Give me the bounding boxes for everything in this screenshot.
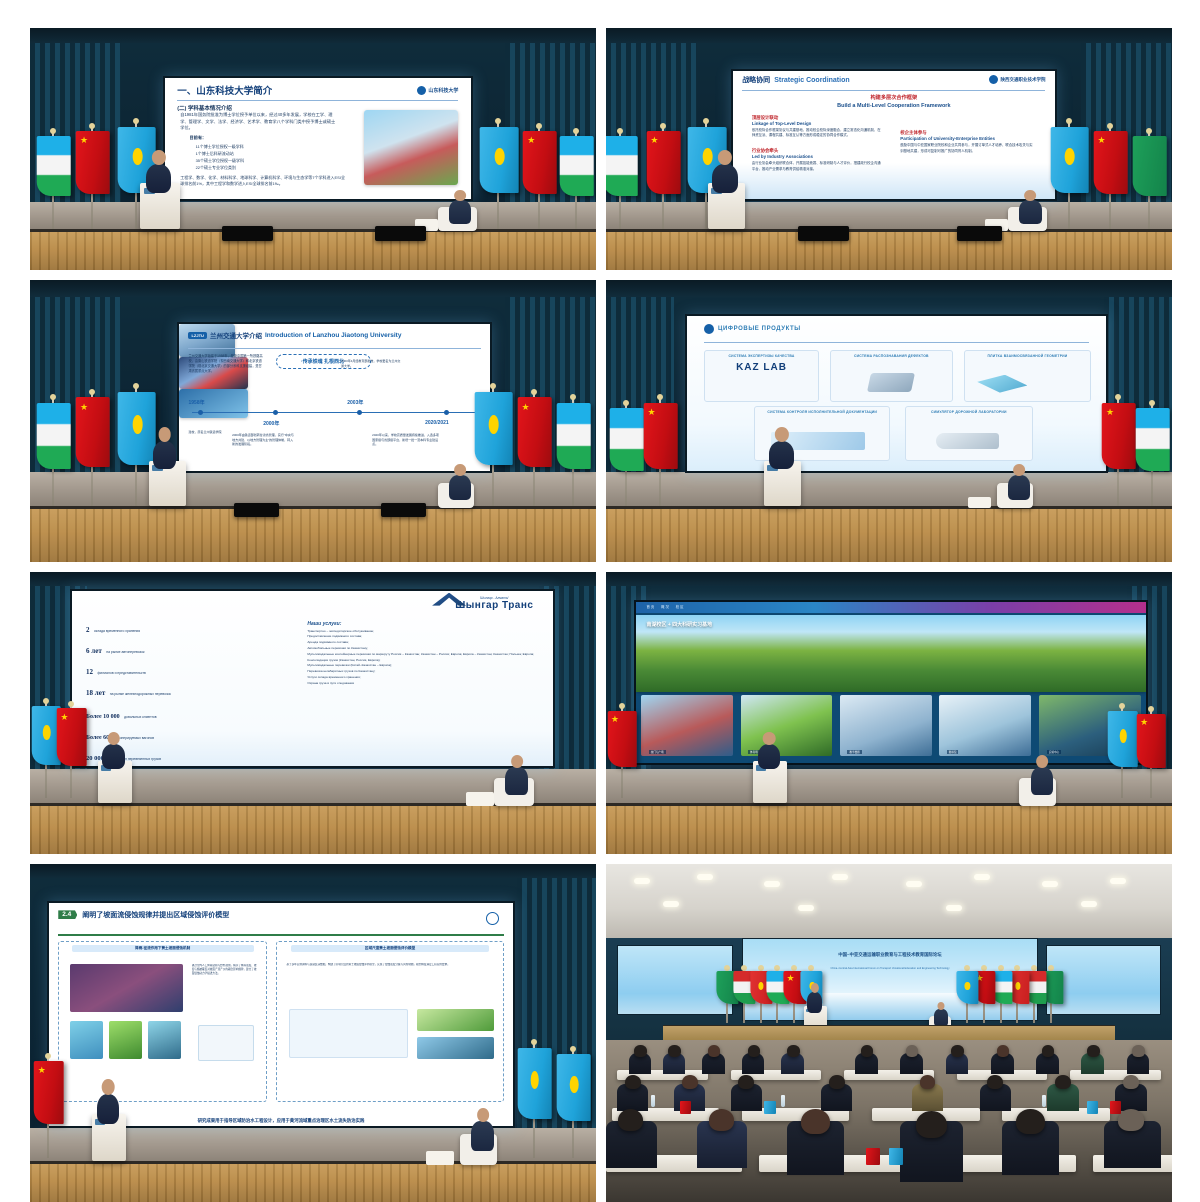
nav-label: 概况 <box>661 605 670 609</box>
ceiling-light <box>798 905 814 911</box>
slide-subtitle: (二) 学科基本情况介绍 <box>177 104 232 112</box>
flag-uzbekistan <box>1141 404 1164 506</box>
service-item: Услуги склада временного хранения; <box>307 675 538 680</box>
result-chart <box>198 1025 254 1062</box>
ceiling-light <box>1110 878 1126 884</box>
timeline-note: 2003年4月经教育部批准，学校更名为兰州交通大学。 <box>341 359 403 369</box>
stat-label: на рынке автоперевозок <box>106 650 144 654</box>
stat-label: оперируемых вагонов <box>120 736 154 740</box>
flag-uzbekistan <box>565 132 588 229</box>
campus-thumbnail: 校门与广场 <box>641 695 733 756</box>
speaker-person <box>153 441 176 469</box>
campus-thumbnail: 图书馆 <box>939 695 1031 756</box>
flag-uzbekistan <box>609 132 632 229</box>
seated-guest <box>934 1009 948 1026</box>
campus-photo <box>364 110 459 185</box>
speaker-person <box>146 164 171 193</box>
audience-head <box>634 1045 646 1056</box>
timeline-dot <box>357 410 362 415</box>
side-table <box>426 1151 454 1165</box>
service-item: Мультимодальные контейнерные перевозки п… <box>307 652 538 657</box>
intro-text: 兰州交通大学始建于1958年，是新中国第一所铁路高校，由唐山铁道学院（现西南交通… <box>188 354 263 375</box>
panel-8-audience-view: 中国–中亚交通运输职业教育与工程技术教育国际论坛 China–Central A… <box>606 864 1172 1202</box>
speaker-person <box>769 441 794 469</box>
presentation-screen: 一、山东科技大学简介 山东科技大学 (二) 学科基本情况介绍 自1981年国务院… <box>163 76 473 201</box>
stage-front-panel <box>30 803 596 854</box>
stage-monitor <box>798 226 849 241</box>
stat-label: филиалов и представительств <box>97 671 145 675</box>
university-logo-icon <box>417 86 426 95</box>
slide-title: ЦИФРОВЫЕ ПРОДУКТЫ <box>718 326 801 332</box>
ceiling-light <box>832 874 848 880</box>
stage-monitor <box>957 226 1002 241</box>
speaker-person <box>97 1094 120 1124</box>
flag-china <box>528 127 551 229</box>
card-body: 通过室内人工降雨试验与野外观测，揭示了降雨强度、坡度与植被覆盖对坡面产流产沙的耦… <box>192 964 258 976</box>
audience-head <box>951 1045 963 1056</box>
flag-uzbekistan <box>562 398 585 505</box>
ceiling-light <box>906 881 922 887</box>
flag-kazakhstan <box>562 1050 585 1158</box>
stage-floor <box>606 202 1172 229</box>
flag-kazakhstan <box>1056 122 1081 228</box>
audience-head <box>709 1109 734 1131</box>
section-number-badge: 2.4 <box>58 910 77 919</box>
stage-monitor <box>375 226 426 241</box>
section-heading-en: Linkage of Top-Level Design <box>752 121 881 126</box>
stat-number: Более 10 000 <box>86 714 120 720</box>
seated-guest <box>471 1121 494 1151</box>
timeline-year: 2000年 <box>263 420 279 427</box>
ceiling-light <box>697 874 713 880</box>
flag-uzbekistan <box>770 969 785 1023</box>
photo-collage: 一、山东科技大学简介 山东科技大学 (二) 学科基本情况介绍 自1981年国务院… <box>30 28 1172 1172</box>
seated-guest <box>1031 767 1054 795</box>
audience-head <box>1118 1109 1144 1131</box>
ceiling-light <box>1081 901 1097 907</box>
ceiling-light <box>974 874 990 880</box>
slide-title: 阐明了坡面流侵蚀规律并提出区域侵蚀评价模型 <box>82 910 229 920</box>
speaker-person <box>712 164 737 193</box>
desk-flag-kazakhstan <box>764 1101 775 1115</box>
stat-number: 6 лет <box>86 647 102 655</box>
audience-head <box>787 1045 799 1056</box>
services-heading: Наши услуги: <box>307 621 538 627</box>
stage-monitor <box>234 503 279 517</box>
service-item: Транспортно – экспедиторское обслуживани… <box>307 629 538 634</box>
product-caption: ПЛИТКА ВЗАИМОСВЯЗАННОЙ ГЕОМЕТРИИ <box>965 354 1091 358</box>
slide-badge: LZJTU <box>188 332 206 339</box>
flag-kazakhstan <box>123 387 148 505</box>
panel-7-erosion-research: 2.4 阐明了坡面流侵蚀规律并提出区域侵蚀评价模型 降雨-径流作用下黄土坡面侵蚀… <box>30 864 596 1202</box>
campus-panorama-photo <box>636 615 1145 692</box>
timeline-note: 2000年由铁道部划转甘肃省管理，实行"中央与地方共建、以地方管理为主"的管理体… <box>232 433 294 447</box>
product-value: KAZ LAB <box>705 362 818 373</box>
seated-guest <box>1008 475 1031 500</box>
sample-photo <box>148 1021 181 1059</box>
flag-china <box>976 969 991 1023</box>
service-item: Аренда подвижного состава; <box>307 640 538 645</box>
sample-photo <box>109 1021 142 1059</box>
section-body: 依托校际合作框架协议与共建基地，推动校企校际深度融合，建立常态化沟通机制，在师资… <box>752 128 881 139</box>
university-logo-icon <box>486 912 499 925</box>
institute-logo-icon <box>989 75 998 84</box>
speaker-person <box>102 744 125 769</box>
stat-number: 12 <box>86 668 93 676</box>
service-item: Перевозка негабаритных грузов по Казахст… <box>307 669 538 674</box>
seated-guest <box>505 767 528 795</box>
stage-front-panel <box>30 1161 596 1202</box>
presentation-screen: 2.4 阐明了坡面流侵蚀规律并提出区域侵蚀评价模型 降雨-径流作用下黄土坡面侵蚀… <box>47 901 515 1128</box>
timeline-dot <box>444 410 449 415</box>
audience-head <box>682 1075 698 1089</box>
desk-flag-china <box>1110 1101 1121 1115</box>
timeline-note: 建校，原名兰州铁道学院 <box>188 430 238 435</box>
audience-head <box>1123 1075 1139 1089</box>
audience-head <box>916 1111 947 1138</box>
timeline-dot <box>273 410 278 415</box>
campus-thumbnail: 教学楼群 <box>840 695 932 756</box>
stage-monitor <box>381 503 426 517</box>
campus-thumbnail: 体育场 <box>741 695 833 756</box>
stage-floor <box>606 769 1172 803</box>
audience-head <box>618 1109 643 1131</box>
section-heading-en: Participation of University-Enterprise E… <box>900 136 1035 141</box>
organization-logo-icon <box>704 324 714 334</box>
water-bottle <box>781 1095 785 1107</box>
flag-kazakhstan <box>1113 707 1133 797</box>
thumbnail-caption: 实验中心 <box>1047 750 1061 754</box>
company-name: Шынгар Транс <box>455 600 533 611</box>
simulator-illustration <box>936 433 999 449</box>
audience-head <box>920 1075 936 1089</box>
section-body: 由行业协会牵头组织联合体，开展技能竞赛、标准研制与人才评价，搭建政行校企沟通平台… <box>752 161 881 172</box>
audience-head <box>748 1045 760 1056</box>
ceiling-light <box>663 901 679 907</box>
list-heading: 目前有： <box>189 135 206 141</box>
audience-head <box>1132 1045 1144 1056</box>
stage-front-panel <box>30 229 596 270</box>
card-title: 区域尺度黄土坡面侵蚀评价模型 <box>291 945 489 952</box>
timeline-note: 2020年以来，学校高质量发展持续推进，入选多项国家级与省部级平台，新增一批一流… <box>372 433 440 447</box>
flag-china <box>38 1057 58 1158</box>
nav-label: 校区 <box>676 605 685 609</box>
ceiling-light <box>1042 881 1058 887</box>
research-card-right: 区域尺度黄土坡面侵蚀评价模型 基于多年实测资料与遥感反演数据，构建了区域尺度的黄… <box>276 941 503 1102</box>
experiment-photo <box>70 964 184 1012</box>
water-bottle <box>1042 1095 1046 1107</box>
stage-monitor <box>222 226 273 241</box>
flag-kazakhstan <box>522 1043 545 1158</box>
audience-head <box>801 1109 829 1134</box>
timeline-axis <box>192 412 478 413</box>
audience-head <box>1055 1075 1071 1089</box>
side-table <box>466 792 494 806</box>
card-title: 降雨-径流作用下黄土坡面侵蚀机制 <box>72 945 254 952</box>
flag-uzbekistan <box>993 969 1008 1023</box>
stage-front-panel <box>606 803 1172 854</box>
org-logo-label: 陕西交通职业技术学院 <box>1000 77 1045 83</box>
panel-4-digital-products: ЦИФРОВЫЕ ПРОДУКТЫ СИСТЕМА ЭКСПЕРТИЗЫ КАЧ… <box>606 280 1172 562</box>
thumbnail-caption: 教学楼群 <box>847 750 861 754</box>
flag-uzbekistan <box>41 398 64 505</box>
flag-kyrgyzstan <box>753 969 768 1023</box>
timeline-year: 1958年 <box>188 399 204 406</box>
stage-front-panel <box>606 229 1172 270</box>
slide-title-cn: 兰州交通大学介绍 <box>210 330 262 340</box>
presentation-screen: ЦИФРОВЫЕ ПРОДУКТЫ СИСТЕМА ЭКСПЕРТИЗЫ КАЧ… <box>685 314 1108 473</box>
flag-china <box>522 393 545 506</box>
audience-head <box>829 1075 845 1089</box>
section-heading-en: Led by Industry Associations <box>752 154 881 159</box>
audience-head <box>861 1045 873 1056</box>
device-illustration <box>867 373 915 392</box>
list-item: 1个博士后科研流动站 <box>196 150 343 157</box>
product-caption: СИСТЕМА ЭКСПЕРТИЗЫ КАЧЕСТВА <box>705 354 818 358</box>
tile-illustration <box>977 375 1027 393</box>
thumbnail-caption: 校门与广场 <box>649 750 666 754</box>
stage-floor <box>30 472 596 506</box>
product-card: СИСТЕМА РАСПОЗНАВАНИЯ ДЕФЕКТОВ <box>830 350 953 402</box>
panel-1-shandong-presentation: 一、山东科技大学简介 山东科技大学 (二) 学科基本情况介绍 自1981年国务院… <box>30 28 596 270</box>
product-caption: СИСТЕМА РАСПОЗНАВАНИЯ ДЕФЕКТОВ <box>831 354 952 358</box>
slide-footer: 工程学、数学、化学、材料科学、地球科学、计算机科学、环境与生态学等7个学科进入E… <box>180 175 345 187</box>
speaker-person <box>758 744 781 769</box>
flag-turkmenistan <box>719 969 734 1023</box>
research-card-left: 降雨-径流作用下黄土坡面侵蚀机制 通过室内人工降雨试验与野外观测，揭示了降雨强度… <box>58 941 267 1102</box>
flag-china <box>612 707 632 797</box>
slide-title-en: Introduction of Lanzhou Jiaotong Univers… <box>265 332 402 339</box>
slide-heading-cn: 构建多层次合作框架 <box>733 94 1056 101</box>
ceiling-light <box>946 905 962 911</box>
flag-kazakhstan <box>486 122 511 228</box>
product-caption: СИМУЛЯТОР ДОРОЖНОЙ ЛАБОРАТОРИИ <box>906 410 1032 414</box>
flag-kazakhstan <box>480 387 505 505</box>
side-table <box>968 497 991 508</box>
water-bottle <box>651 1095 655 1107</box>
panel-2-strategic-coordination: 战略协同 Strategic Coordination 陕西交通职业技术学院 构… <box>606 28 1172 270</box>
speaker-person <box>807 992 822 1012</box>
nav-label: 首页 <box>646 605 655 609</box>
slide-title-en: Strategic Coordination <box>774 77 849 84</box>
card-body: 基于多年实测资料与遥感反演数据，构建了区域尺度的黄土坡面侵蚀评价模型，实现了侵蚀… <box>286 963 493 967</box>
flag-china <box>1098 127 1121 229</box>
flag-china <box>1141 710 1161 797</box>
slide-footer: 研究成果用于指导区域防治水工程设计，应用于黄河流域重点治理区水土流失防治实践 <box>68 1118 495 1124</box>
list-item: 35个硕士学位授权一级学科 <box>196 157 343 164</box>
panel-6-cumt-campus: 首页 概况 校区 中国矿业大学 南湖校区 + 四大科研实习基地 校门与广场 <box>606 572 1172 854</box>
flag-turkmenistan <box>1044 969 1059 1023</box>
stat-label: на рынке железнодорожных перевозок <box>110 692 171 696</box>
product-caption: СИСТЕМА КОНТРОЛЯ ИСПОЛНИТЕЛЬНОЙ ДОКУМЕНТ… <box>755 410 889 414</box>
service-item: Консолидация грузов (Казахстан, Россия, … <box>307 658 538 663</box>
ceiling-light <box>634 878 650 884</box>
desk-flag-china <box>866 1148 880 1165</box>
org-logo-label: 山东科技大学 <box>428 87 458 94</box>
flag-china <box>787 969 802 1023</box>
ceiling-light <box>764 881 780 887</box>
presentation-screen: 战略协同 Strategic Coordination 陕西交通职业技术学院 构… <box>731 69 1058 201</box>
flag-kazakhstan <box>959 969 974 1023</box>
terrain-map <box>417 1037 494 1059</box>
sample-photo <box>70 1021 103 1059</box>
flag-tajikistan <box>1027 969 1042 1023</box>
flag-china <box>81 393 104 506</box>
stat-number: 18 лет <box>86 689 105 697</box>
timeline-year: 2003年 <box>347 399 363 406</box>
timeline-year: 2020/2021 <box>425 420 449 426</box>
service-item: Охрана груза в пути следования <box>307 681 538 686</box>
flag-kazakhstan <box>36 702 56 798</box>
audience-head <box>1042 1045 1054 1056</box>
stat-number: 2 <box>86 626 90 634</box>
desk-flag-kazakhstan <box>889 1148 903 1165</box>
service-item: Мультимодальные перевозки (Китай–Казахст… <box>307 663 538 668</box>
presentation-screen: LZJTU 兰州交通大学介绍 Introduction of Lanzhou J… <box>177 322 492 473</box>
forum-banner-cn: 中国–中亚交通运输职业教育与工程技术教育国际论坛 <box>760 952 1019 958</box>
audience-head <box>625 1075 641 1089</box>
flag-china <box>651 127 674 229</box>
audience-head <box>997 1045 1009 1056</box>
thumbnail-caption: 图书馆 <box>947 750 959 754</box>
audience-head <box>987 1075 1003 1089</box>
stage-front-panel <box>30 506 596 562</box>
slide-title: 一、山东科技大学简介 <box>177 83 272 97</box>
panel-3-lanzhou-jiaotong: LZJTU 兰州交通大学介绍 Introduction of Lanzhou J… <box>30 280 596 562</box>
seated-guest <box>449 200 472 224</box>
presentation-screen: 'Шынгар - Алматы' Шынгар Транс 2 склада … <box>70 589 555 768</box>
flag-china <box>81 127 104 229</box>
audience-head <box>1016 1109 1044 1134</box>
service-item: Автомобильные перевозки по Казахстану; <box>307 646 538 651</box>
stage-front-panel <box>606 506 1172 562</box>
flag-uzbekistan <box>41 132 64 229</box>
slide-title-cn: 战略协同 <box>742 75 770 85</box>
timeline-photo <box>179 324 235 356</box>
section-body: 鼓励中国与中亚国家职业院校和企业共同参与，开展订单式人才培养、联合技术攻关与实训… <box>900 143 1035 154</box>
stat-label: склада временного хранения <box>94 629 140 633</box>
flag-turkmenistan <box>1138 132 1161 229</box>
audience-head <box>1087 1045 1099 1056</box>
slide-heading-en: Build a Multi-Level Cooperation Framewor… <box>733 103 1056 109</box>
product-card: СИСТЕМА ЭКСПЕРТИЗЫ КАЧЕСТВА KAZ LAB <box>704 350 819 402</box>
seated-guest <box>1019 200 1042 224</box>
seated-guest <box>449 475 472 500</box>
model-diagram <box>289 1009 408 1059</box>
panel-5-shyngar-trans: 'Шынгар - Алматы' Шынгар Транс 2 склада … <box>30 572 596 854</box>
audience-head <box>668 1045 680 1056</box>
product-card: ПЛИТКА ВЗАИМОСВЯЗАННОЙ ГЕОМЕТРИИ <box>964 350 1092 402</box>
terrain-map <box>417 1009 494 1031</box>
flag-china <box>648 398 671 505</box>
audience-head <box>738 1075 754 1089</box>
stage-floor <box>606 472 1172 506</box>
flag-china <box>61 705 81 798</box>
stat-label: довольных клиентов <box>124 715 156 719</box>
desk-flag-kazakhstan <box>1087 1101 1098 1115</box>
audience-head <box>906 1045 918 1056</box>
list-item: 11个博士学位授权一级学科 <box>196 143 343 150</box>
flag-uzbekistan <box>614 404 637 506</box>
service-item: Предоставление подвижного состава; <box>307 634 538 639</box>
audience-head <box>708 1045 720 1056</box>
slide-heading: 南湖校区 + 四大科研实习基地 <box>646 621 712 628</box>
flag-kyrgyzstan <box>1010 969 1025 1023</box>
flag-china <box>1107 398 1130 505</box>
desk-flag-china <box>680 1101 691 1115</box>
list-item: 22个硕士专业学位类别 <box>196 164 343 171</box>
product-card: СИМУЛЯТОР ДОРОЖНОЙ ЛАБОРАТОРИИ <box>905 406 1033 461</box>
flag-tajikistan <box>736 969 751 1023</box>
presentation-screen: 首页 概况 校区 中国矿业大学 南湖校区 + 四大科研实习基地 校门与广场 <box>634 600 1147 765</box>
slide-body: 自1981年国务院批准为博士学位授予单位以来，经过40多年发展，学校在工学、理学… <box>180 112 339 132</box>
